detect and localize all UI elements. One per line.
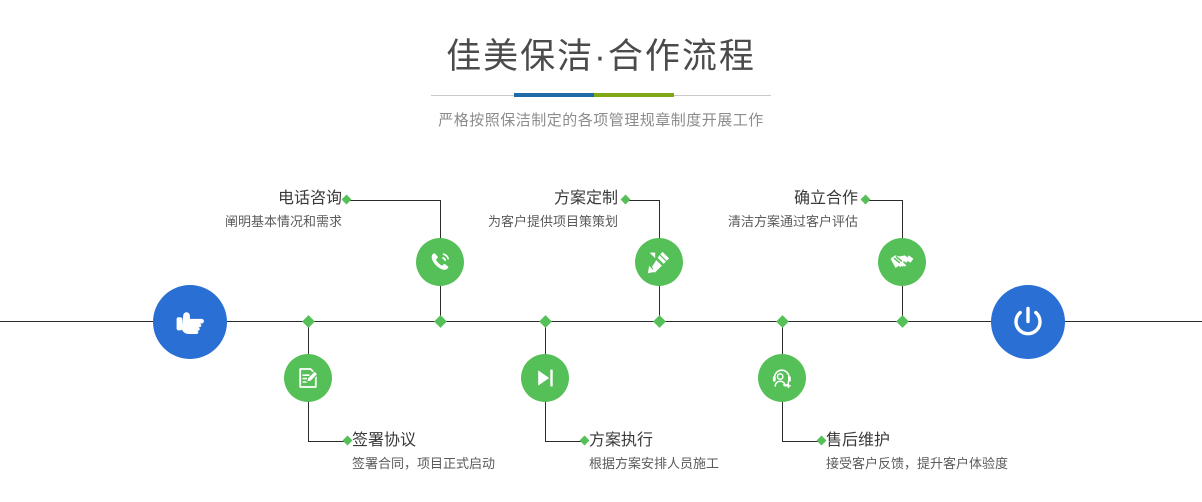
step-label-6: 售后维护 接受客户反馈，提升客户体验度 xyxy=(826,430,1126,474)
connector-diamond-step-3 xyxy=(621,195,631,205)
step-desc-2: 签署合同，项目正式启动 xyxy=(352,454,612,474)
step-node-5[interactable] xyxy=(878,238,926,286)
step-node-1[interactable] xyxy=(416,238,464,286)
step-title-6: 售后维护 xyxy=(826,430,1126,452)
step-node-4[interactable] xyxy=(521,354,569,402)
power-icon xyxy=(1007,301,1049,343)
step-node-3[interactable] xyxy=(635,238,683,286)
title-divider xyxy=(431,90,771,102)
step-title-4: 方案执行 xyxy=(589,430,849,452)
step-title-1: 电话咨询 xyxy=(150,188,342,210)
timeline-start-node xyxy=(153,285,227,359)
step-node-2[interactable] xyxy=(284,354,332,402)
connector-diamond-step-2 xyxy=(343,436,353,446)
step-desc-5: 清洁方案通过客户评估 xyxy=(665,212,858,232)
step-title-5: 确立合作 xyxy=(665,188,858,210)
phone-call-icon xyxy=(426,248,454,276)
connector-horizontal-step-2 xyxy=(308,441,347,442)
handshake-icon xyxy=(888,248,916,276)
step-desc-6: 接受客户反馈，提升客户体验度 xyxy=(826,454,1126,474)
step-title-2: 签署协议 xyxy=(352,430,612,452)
axis-diamond-step-6 xyxy=(776,315,789,328)
connector-diamond-step-5 xyxy=(861,195,871,205)
timeline-end-node xyxy=(991,285,1065,359)
step-title-3: 方案定制 xyxy=(420,188,618,210)
page-subtitle: 严格按照保洁制定的各项管理规章制度开展工作 xyxy=(0,110,1202,132)
divider-segment-blue xyxy=(514,93,594,97)
axis-diamond-step-5 xyxy=(896,315,909,328)
step-label-2: 签署协议 签署合同，项目正式启动 xyxy=(352,430,612,474)
connector-diamond-step-1 xyxy=(342,195,352,205)
connector-horizontal-step-5 xyxy=(866,200,902,201)
axis-diamond-step-4 xyxy=(539,315,552,328)
step-label-4: 方案执行 根据方案安排人员施工 xyxy=(589,430,849,474)
step-label-1: 电话咨询 阐明基本情况和需求 xyxy=(150,188,342,232)
step-desc-3: 为客户提供项目策策划 xyxy=(420,212,618,232)
customer-support-icon xyxy=(769,365,795,391)
flowchart-canvas: 佳美保洁·合作流程 严格按照保洁制定的各项管理规章制度开展工作 xyxy=(0,0,1202,502)
pencil-ruler-icon xyxy=(645,248,673,276)
step-desc-4: 根据方案安排人员施工 xyxy=(589,454,849,474)
step-label-3: 方案定制 为客户提供项目策策划 xyxy=(420,188,618,232)
step-label-5: 确立合作 清洁方案通过客户评估 xyxy=(665,188,858,232)
play-forward-icon xyxy=(532,365,558,391)
page-title: 佳美保洁·合作流程 xyxy=(0,34,1202,80)
axis-diamond-step-3 xyxy=(653,315,666,328)
header: 佳美保洁·合作流程 严格按照保洁制定的各项管理规章制度开展工作 xyxy=(0,34,1202,132)
step-node-6[interactable] xyxy=(758,354,806,402)
axis-diamond-step-2 xyxy=(302,315,315,328)
divider-segment-green xyxy=(594,93,674,97)
document-sign-icon xyxy=(295,365,321,391)
step-desc-1: 阐明基本情况和需求 xyxy=(150,212,342,232)
connector-horizontal-step-3 xyxy=(626,200,659,201)
axis-diamond-step-1 xyxy=(434,315,447,328)
pointing-hand-icon xyxy=(170,302,210,342)
